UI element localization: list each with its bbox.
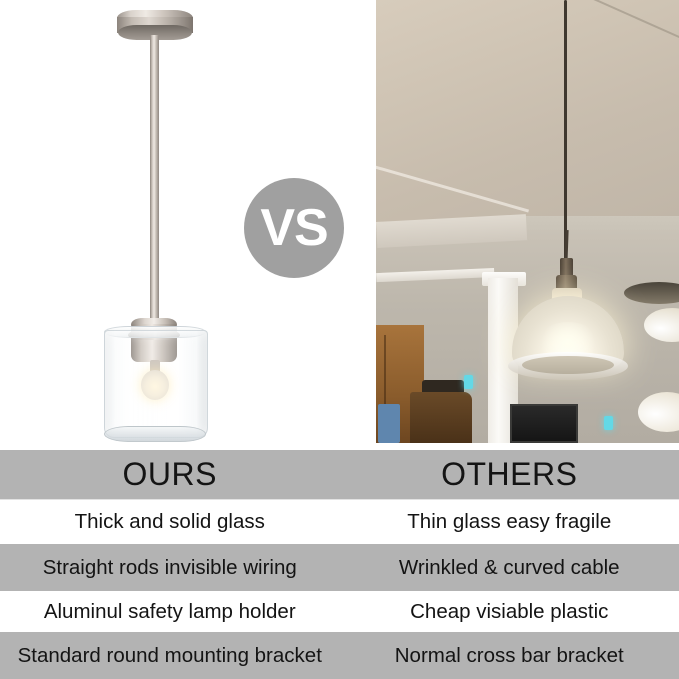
vs-badge-label: VS xyxy=(260,202,327,254)
cell-others-2: Wrinkled & curved cable xyxy=(340,544,679,591)
cell-ours-2: Straight rods invisible wiring xyxy=(0,544,340,591)
cell-ours-4: Standard round mounting bracket xyxy=(0,632,340,679)
straight-down-rod xyxy=(150,35,159,332)
comparison-table: OURS OTHERS Thick and solid glass Thin g… xyxy=(0,450,679,679)
header-ours: OURS xyxy=(0,450,340,499)
curved-hanging-cable xyxy=(564,0,567,264)
vs-badge: VS xyxy=(244,178,344,278)
teal-nightlight-right xyxy=(604,416,613,430)
others-room-photo xyxy=(376,0,679,443)
television-screen xyxy=(510,404,578,443)
teal-nightlight-left xyxy=(464,375,473,389)
table-row: Thick and solid glass Thin glass easy fr… xyxy=(0,500,679,544)
edison-bulb xyxy=(141,370,169,400)
glass-shade-bottom-rim xyxy=(104,426,206,442)
comparison-infographic: VS xyxy=(0,0,679,679)
cell-others-1: Thin glass easy fragile xyxy=(340,500,679,544)
header-others: OTHERS xyxy=(340,450,679,499)
ceiling-surface xyxy=(376,0,679,238)
table-row: Straight rods invisible wiring Wrinkled … xyxy=(0,544,679,591)
table-header-row: OURS OTHERS xyxy=(0,450,679,500)
cell-ours-3: Aluminul safety lamp holder xyxy=(0,591,340,632)
table-row: Standard round mounting bracket Normal c… xyxy=(0,632,679,679)
cell-ours-1: Thick and solid glass xyxy=(0,500,340,544)
cell-others-4: Normal cross bar bracket xyxy=(340,632,679,679)
table-row: Aluminul safety lamp holder Cheap visiab… xyxy=(0,591,679,632)
cell-others-3: Cheap visiable plastic xyxy=(340,591,679,632)
dome-shade-interior xyxy=(522,356,614,374)
shelf-items xyxy=(410,392,472,443)
top-comparison-area: VS xyxy=(0,0,679,450)
blue-object xyxy=(378,404,400,443)
